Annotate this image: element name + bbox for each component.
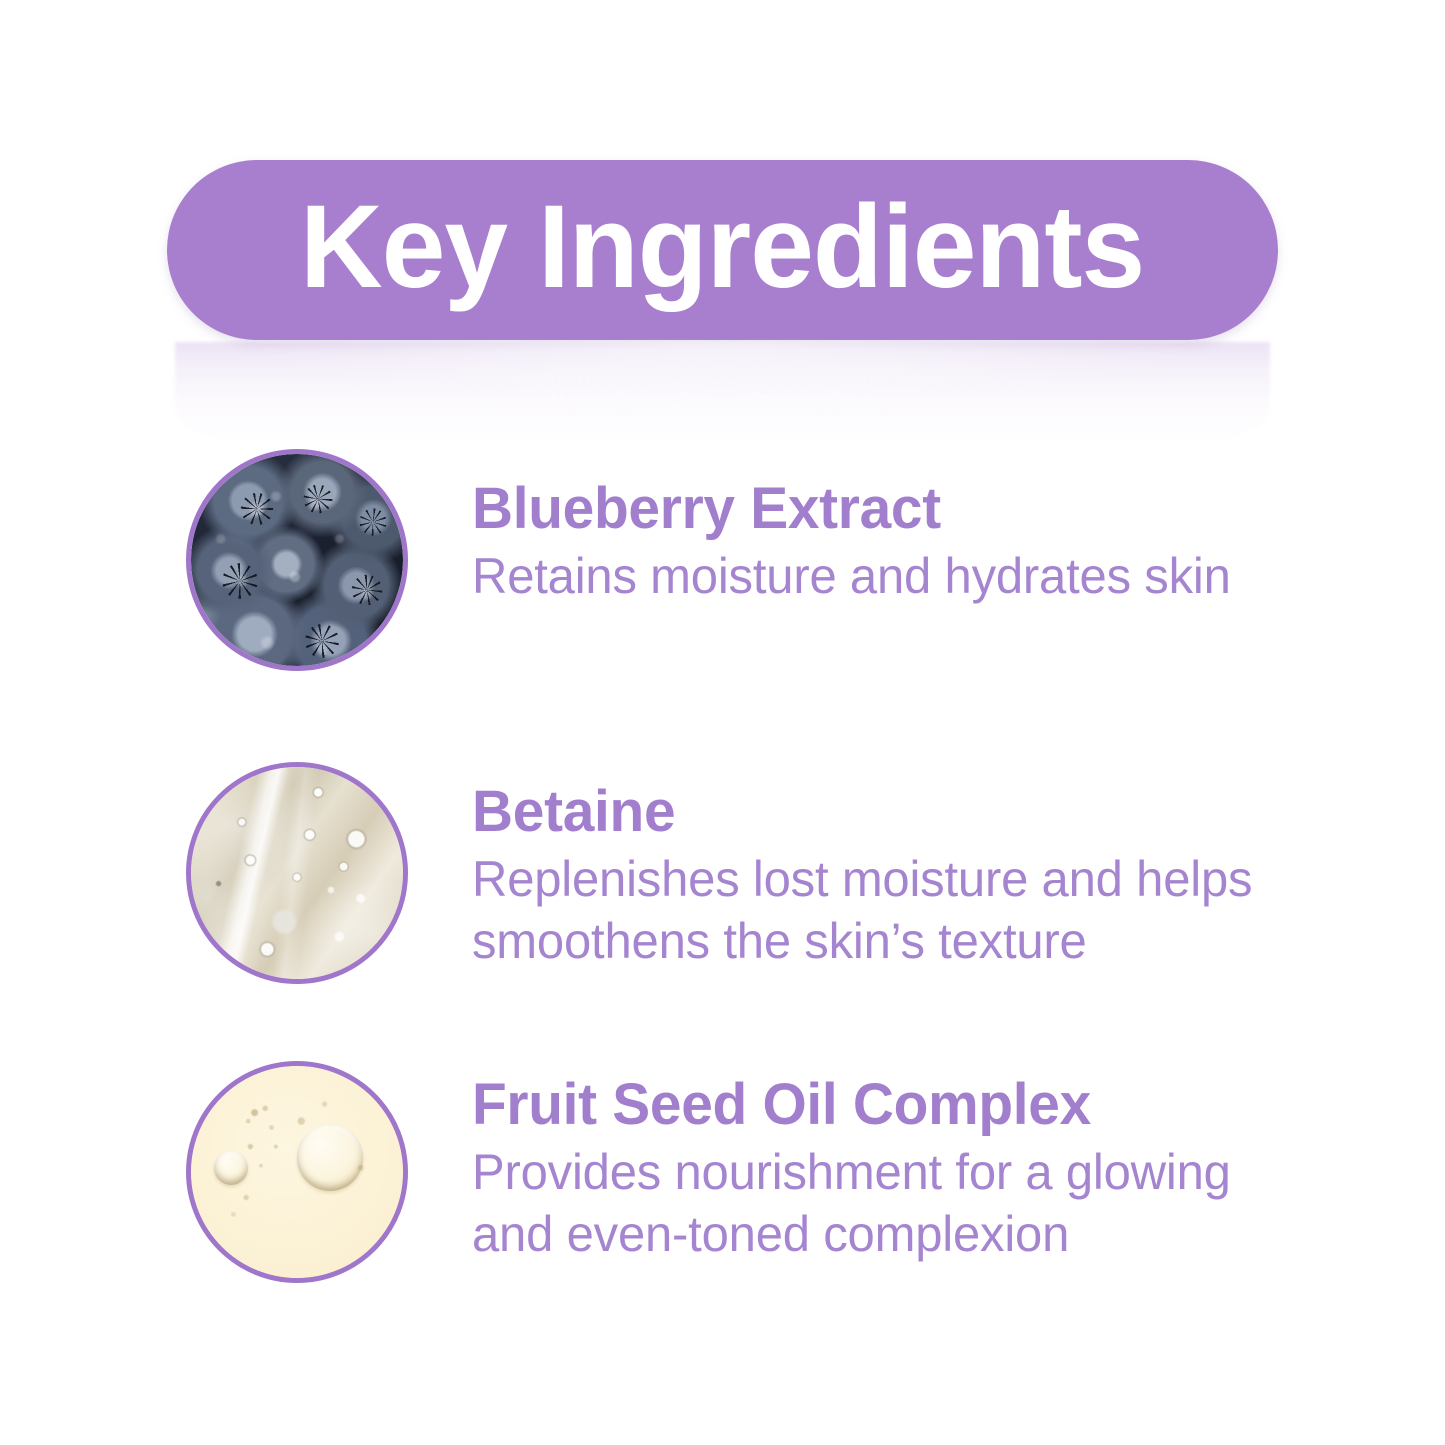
ingredient-row: Fruit Seed Oil Complex Provides nourishm… xyxy=(186,1061,1306,1283)
pale-oil-bubbles-photo xyxy=(191,1066,403,1278)
oil-bubble-small-icon xyxy=(214,1151,248,1185)
beige-gel-texture-photo xyxy=(191,767,403,979)
header-banner-pill: Key Ingredients xyxy=(167,160,1278,340)
ingredient-name: Fruit Seed Oil Complex xyxy=(472,1075,1289,1135)
blueberry-calyx-icon xyxy=(238,490,276,528)
ingredient-text: Fruit Seed Oil Complex Provides nourishm… xyxy=(472,1061,1306,1265)
ingredient-row: Betaine Replenishes lost moisture and he… xyxy=(186,762,1306,984)
ingredient-name: Blueberry Extract xyxy=(472,479,1231,539)
ingredient-text: Blueberry Extract Retains moisture and h… xyxy=(472,449,1246,607)
header-banner: Key Ingredients xyxy=(167,160,1278,340)
key-ingredients-infographic: Key Ingredients Blueberry Extract Retain… xyxy=(0,0,1445,1445)
oil-bubble-large-icon xyxy=(297,1125,363,1191)
ingredient-name: Betaine xyxy=(472,782,1289,842)
ingredient-text: Betaine Replenishes lost moisture and he… xyxy=(472,762,1306,972)
ingredient-row: Blueberry Extract Retains moisture and h… xyxy=(186,449,1306,671)
blueberry-calyx-icon xyxy=(355,503,392,540)
ingredient-thumbnail-betaine xyxy=(186,762,408,984)
blueberries-photo xyxy=(191,454,403,666)
ingredient-description: Replenishes lost moisture and helps smoo… xyxy=(472,848,1289,972)
ingredient-description: Retains moisture and hydrates skin xyxy=(472,545,1231,607)
ingredient-thumbnail-blueberry xyxy=(186,449,408,671)
blueberry-calyx-icon xyxy=(302,620,343,661)
ingredient-description: Provides nourishment for a glowing and e… xyxy=(472,1141,1289,1265)
ingredient-thumbnail-fruit-seed-oil xyxy=(186,1061,408,1283)
blueberry-calyx-icon xyxy=(220,561,260,601)
blueberry-calyx-icon xyxy=(348,570,387,609)
blueberry-calyx-icon xyxy=(300,480,337,517)
banner-reflection xyxy=(175,342,1270,440)
page-title: Key Ingredients xyxy=(300,188,1144,312)
